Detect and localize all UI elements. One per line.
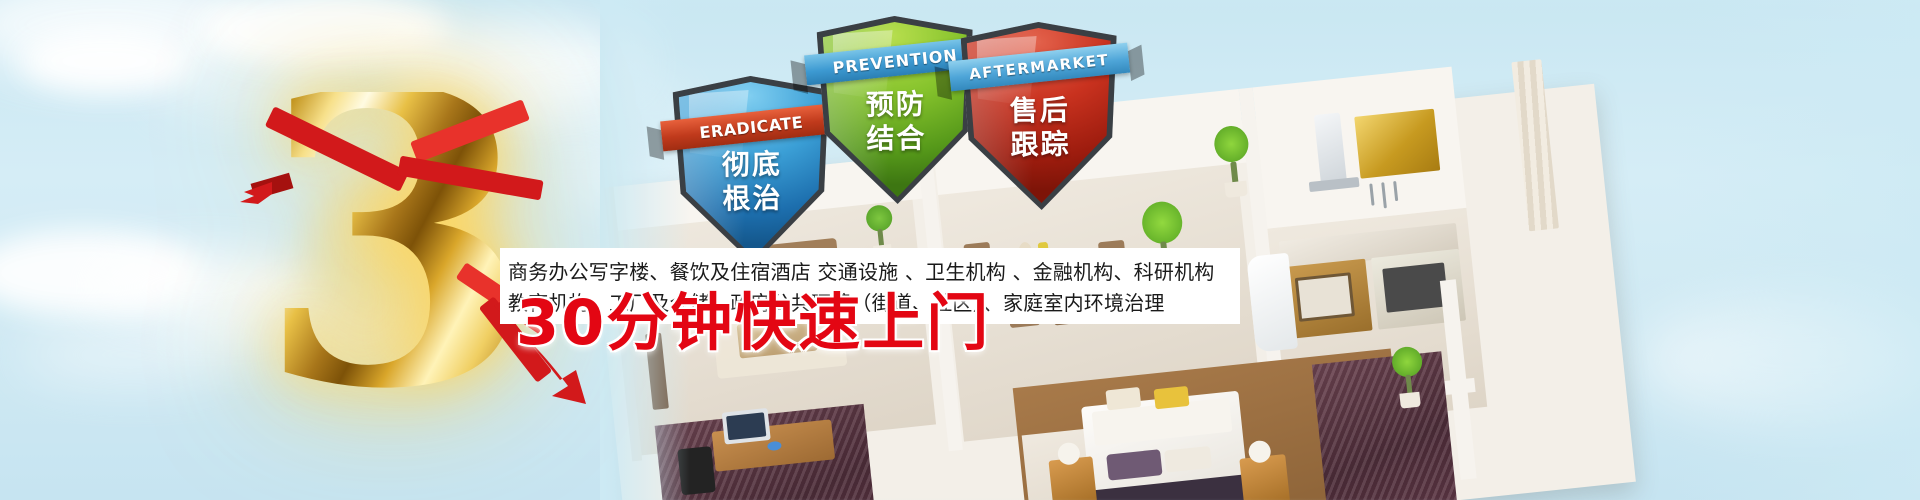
headline-text: 30分钟快速上门 bbox=[516, 288, 990, 358]
promo-banner: 3 彻底 根治 ERADICATE bbox=[0, 0, 1920, 500]
shield-chinese-line1: 售后 bbox=[962, 93, 1119, 130]
shield-chinese-line2: 跟踪 bbox=[962, 127, 1119, 164]
shield-chinese-line2: 根治 bbox=[674, 181, 831, 218]
shield-aftermarket[interactable]: 售后 跟踪 AFTERMARKET bbox=[960, 21, 1119, 212]
shield-prevention[interactable]: 预防 结合 PREVENTION bbox=[816, 15, 975, 206]
shield-english-label: ERADICATE bbox=[698, 112, 804, 142]
shield-chinese-line2: 结合 bbox=[818, 121, 975, 158]
sash-fold-left bbox=[935, 66, 953, 99]
shield-chinese-label: 彻底 根治 bbox=[674, 147, 831, 218]
service-scope-line-1: 商务办公写字楼、餐饮及住宿酒店 交通设施 、卫生机构 、金融机构、科研机构 bbox=[500, 257, 1240, 288]
shield-chinese-label: 售后 跟踪 bbox=[962, 93, 1119, 164]
sash-fold-right bbox=[1128, 45, 1145, 81]
shield-eradicate[interactable]: 彻底 根治 ERADICATE bbox=[672, 75, 831, 266]
shield-chinese-line1: 彻底 bbox=[674, 147, 831, 184]
sash-fold-left bbox=[791, 60, 809, 93]
sash-fold-left bbox=[647, 126, 665, 159]
